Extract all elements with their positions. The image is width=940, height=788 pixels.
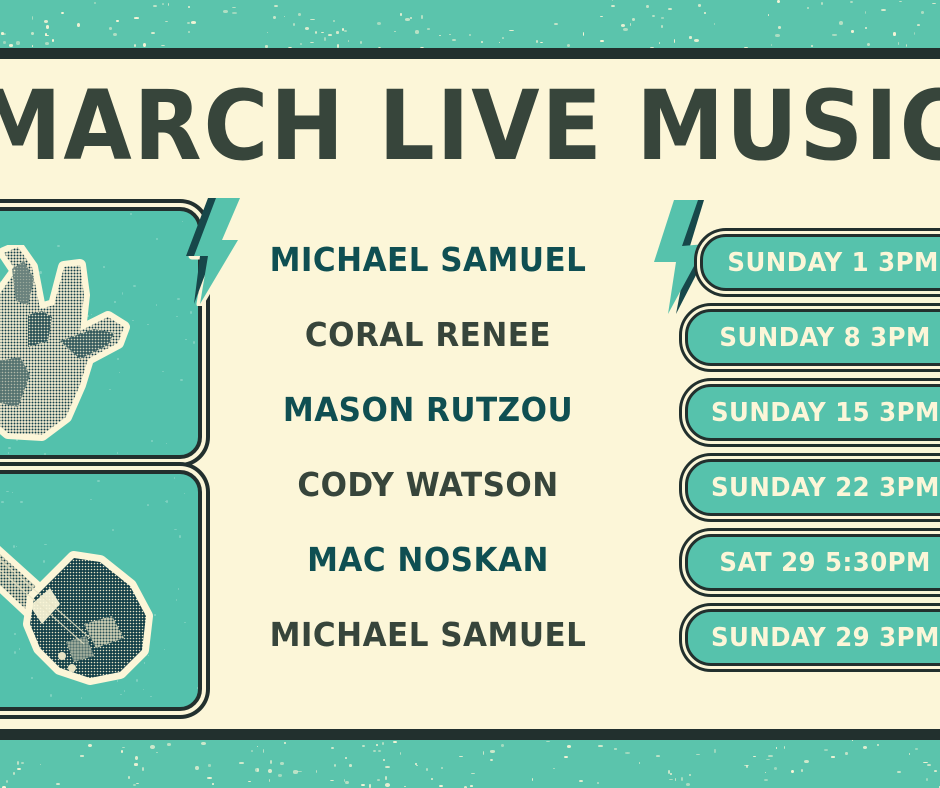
page-title: MARCH LIVE MUSIC: [38, 72, 903, 180]
artist-name: MICHAEL SAMUEL: [231, 597, 626, 672]
date-pill[interactable]: SAT 29 5:30PM: [685, 534, 940, 591]
lineup-row[interactable]: MASON RUTZOU SUNDAY 15 3PM: [0, 372, 940, 447]
top-divider-rule: [0, 48, 940, 59]
lineup-row[interactable]: MAC NOSKAN SAT 29 5:30PM: [0, 522, 940, 597]
date-pill-label: SUNDAY 29 3PM: [694, 623, 940, 653]
lineup-row[interactable]: MICHAEL SAMUEL SUNDAY 1 3PM: [0, 222, 940, 297]
lineup-list: MICHAEL SAMUEL SUNDAY 1 3PM CORAL RENEE …: [0, 222, 940, 672]
top-teal-band: [0, 0, 940, 48]
date-pill-label: SUNDAY 1 3PM: [710, 248, 940, 278]
artist-name: CODY WATSON: [231, 447, 626, 522]
artist-name: MICHAEL SAMUEL: [231, 222, 626, 297]
artist-name: MAC NOSKAN: [231, 522, 626, 597]
date-pill[interactable]: SUNDAY 1 3PM: [700, 234, 940, 291]
bottom-teal-band: [0, 740, 940, 788]
date-pill[interactable]: SUNDAY 22 3PM: [685, 459, 940, 516]
poster-canvas: MARCH LIVE MUSIC: [0, 0, 940, 788]
bottom-divider-rule: [0, 729, 940, 740]
date-pill[interactable]: SUNDAY 8 3PM: [685, 309, 940, 366]
artist-name: CORAL RENEE: [231, 297, 626, 372]
date-pill-label: SUNDAY 15 3PM: [694, 398, 940, 428]
date-pill-label: SUNDAY 22 3PM: [694, 473, 940, 503]
artist-name: MASON RUTZOU: [231, 372, 626, 447]
date-pill-label: SUNDAY 8 3PM: [703, 323, 937, 353]
date-pill[interactable]: SUNDAY 15 3PM: [685, 384, 940, 441]
date-pill[interactable]: SUNDAY 29 3PM: [685, 609, 940, 666]
lineup-row[interactable]: CORAL RENEE SUNDAY 8 3PM: [0, 297, 940, 372]
lineup-row[interactable]: CODY WATSON SUNDAY 22 3PM: [0, 447, 940, 522]
lineup-row[interactable]: MICHAEL SAMUEL SUNDAY 29 3PM: [0, 597, 940, 672]
date-pill-label: SAT 29 5:30PM: [702, 548, 936, 578]
